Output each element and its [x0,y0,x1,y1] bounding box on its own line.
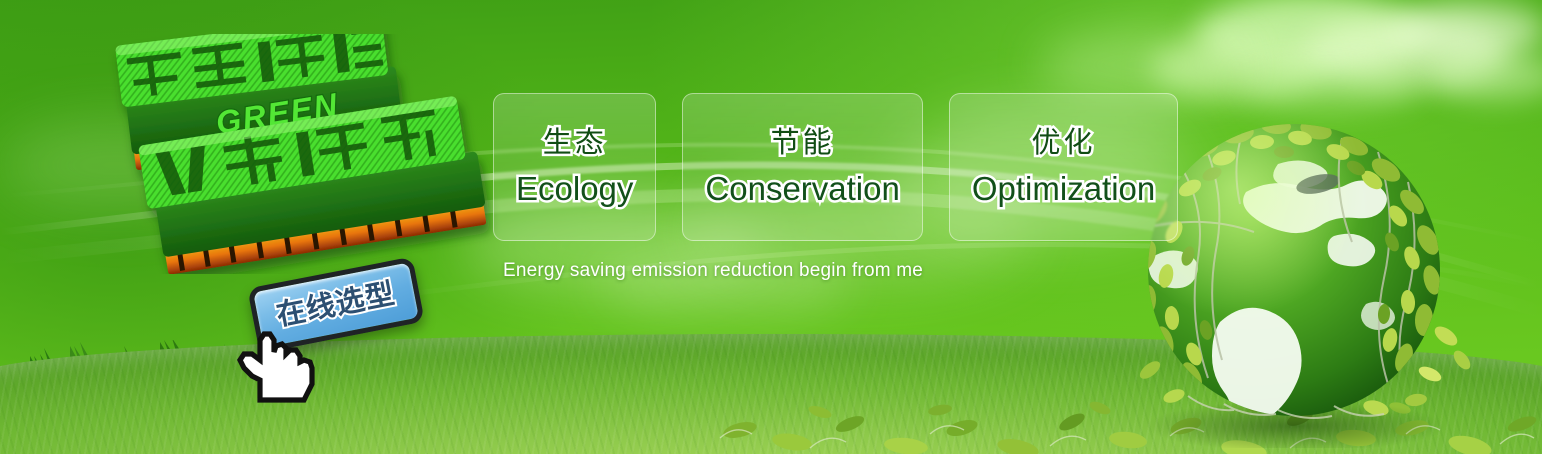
banner-tagline: Energy saving emission reduction begin f… [503,260,923,282]
eco-promo-banner: GREEN GREEN [0,0,1542,454]
feature-card-ecology[interactable]: 生态 Ecology [493,93,656,241]
headline-3d-text: GREEN GREEN [100,34,500,274]
feature-card-title-en: Ecology [516,172,633,205]
cta-button-label: 在线选型 [274,279,397,330]
feature-card-title-cn: 优化 [1032,129,1096,158]
feature-card-optimization[interactable]: 优化 Optimization [949,93,1178,241]
feature-card-conservation[interactable]: 节能 Conservation [682,93,922,241]
feature-card-title-cn: 节能 [771,129,835,158]
feature-card-title-en: Optimization [972,172,1155,205]
earth-globe-graphic [1128,108,1476,448]
feature-card-title-cn: 生态 [543,129,607,158]
feature-card-row: 生态 Ecology 节能 Conservation 优化 Optimizati… [493,93,1178,241]
feature-card-title-en: Conservation [705,172,899,205]
